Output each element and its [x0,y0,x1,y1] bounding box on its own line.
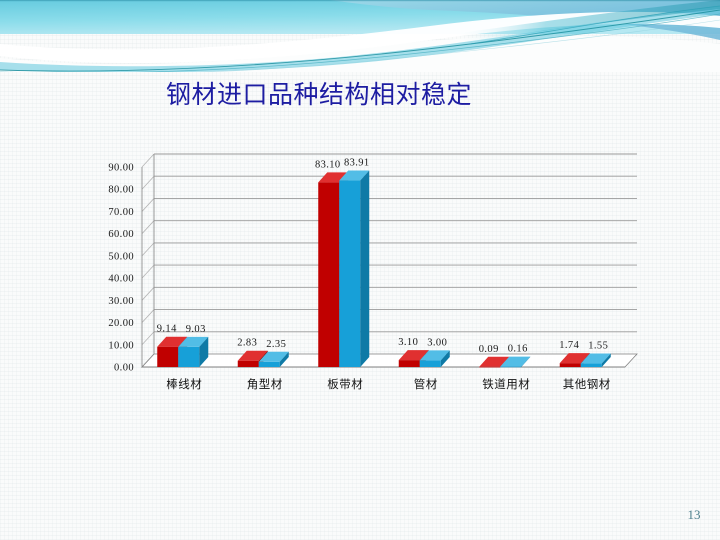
y-axis-tick-label: 20.00 [108,318,134,329]
bar-data-label: 9.14 [157,324,177,335]
bar-data-label: 0.16 [508,344,528,355]
bar-data-label: 0.09 [479,344,499,355]
y-axis-tick-label: 40.00 [108,274,134,285]
bar-front [318,182,339,367]
bar-front [500,367,521,368]
y-axis-tick-label: 90.00 [108,163,134,174]
chart-bars [157,171,611,368]
bar-chart: 0.0010.0020.0030.0040.0050.0060.0070.008… [90,132,650,402]
bar-data-label: 2.83 [237,338,257,349]
chart-gridlines [142,154,637,345]
bar-front [581,364,602,367]
y-axis-tick-label: 10.00 [108,340,134,351]
bar-front [259,362,280,367]
bar-side [360,171,369,367]
x-axis-category-label: 角型材 [247,377,283,391]
x-axis-category-label: 棒线材 [166,377,202,391]
bar-front [560,363,581,367]
bar-front [178,347,199,367]
y-axis-tick-label: 0.00 [114,363,134,374]
y-axis-tick-label: 80.00 [108,185,134,196]
x-axis-category-label: 其他钢材 [563,377,611,391]
bar-data-label: 1.55 [588,341,608,352]
bar-data-labels: 9.149.032.832.3583.1083.913.103.000.090.… [157,158,608,355]
y-axis-tick-label: 30.00 [108,296,134,307]
bar-front [420,360,441,367]
bar-data-label: 3.00 [427,337,447,348]
x-axis-category-label: 板带材 [327,377,363,391]
page-title: 钢材进口品种结构相对稳定 [166,75,472,111]
bar-data-label: 1.74 [559,340,579,351]
bar-front [339,181,360,367]
x-axis-category-label: 管材 [414,377,438,391]
bar-front [479,367,500,368]
x-axis-category-labels: 棒线材角型材板带材管材铁道用材其他钢材 [166,377,611,391]
slide-canvas: 钢材进口品种结构相对稳定 0.0010.0020.0030.0040.0050.… [0,0,720,540]
bar-data-label: 3.10 [398,337,418,348]
bar-front [399,360,420,367]
bar-data-label: 83.91 [344,158,370,169]
chart-axis-walls [142,154,637,367]
y-axis-tick-label: 50.00 [108,251,134,262]
bar-front [238,361,259,367]
bar-front [157,347,178,367]
y-axis-tick-label: 60.00 [108,229,134,240]
y-axis-tick-labels: 0.0010.0020.0030.0040.0050.0060.0070.008… [108,163,134,374]
page-number: 13 [688,507,701,523]
bar-data-label: 2.35 [266,339,286,350]
y-axis-tick-label: 70.00 [108,207,134,218]
x-axis-category-label: 铁道用材 [482,377,530,391]
header-wave-decoration [0,0,720,72]
bar-data-label: 83.10 [315,159,341,170]
bar-data-label: 9.03 [186,324,206,335]
